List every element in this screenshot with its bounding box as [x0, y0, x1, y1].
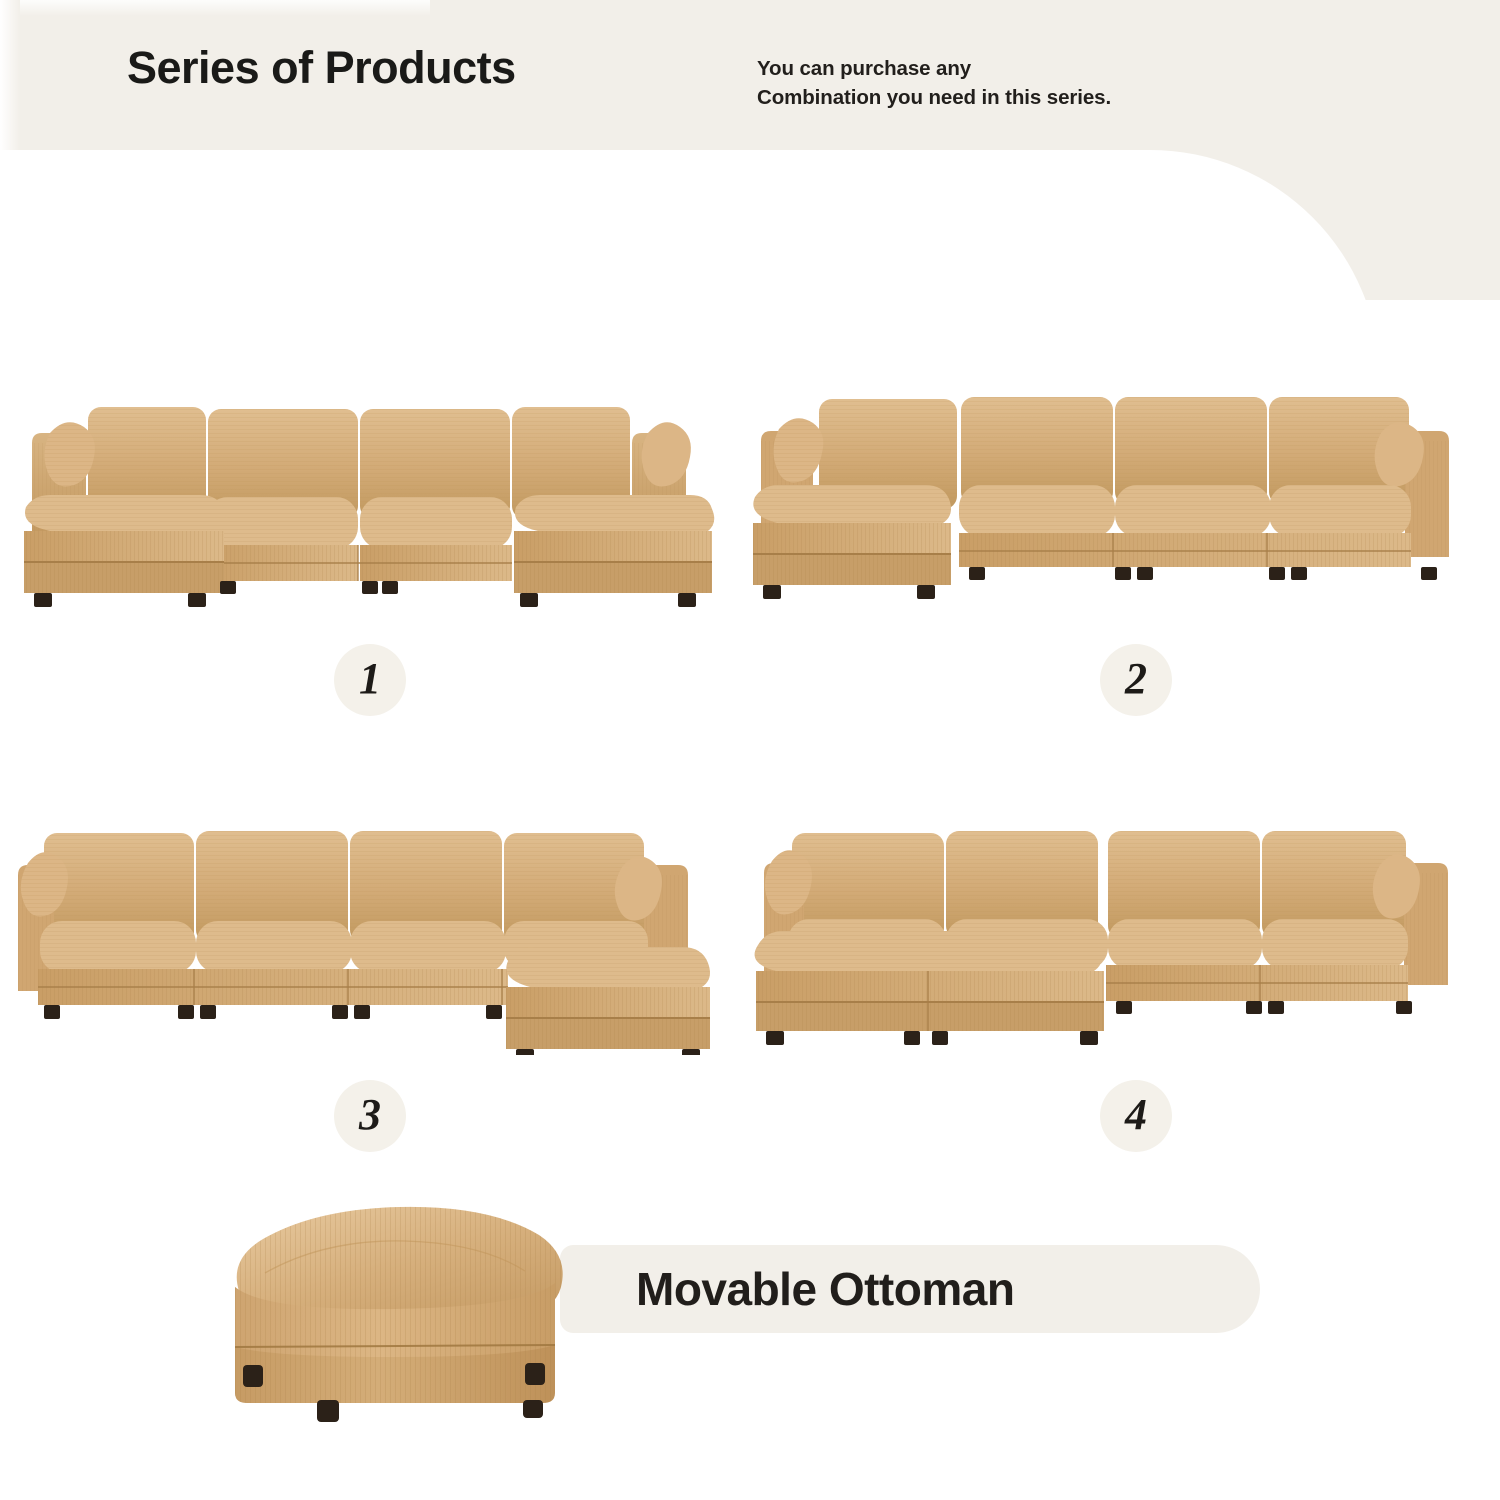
product-badge-4-label: 4 — [1125, 1093, 1147, 1137]
product-image-1[interactable] — [10, 385, 730, 620]
front-ottoman-pair — [755, 931, 1104, 1031]
base-frames — [206, 545, 512, 581]
header-curve-shape — [0, 150, 1380, 300]
base-frames — [38, 969, 508, 1005]
seat-cushions — [206, 497, 512, 549]
product-image-4[interactable] — [750, 815, 1460, 1055]
product-badge-3[interactable]: 3 — [334, 1080, 406, 1152]
page-title: Series of Products — [127, 44, 516, 91]
product-badge-1-label: 1 — [359, 657, 381, 701]
right-corner-chaise-ottoman — [506, 947, 710, 1049]
base-frames — [959, 533, 1411, 567]
left-chaise-ottoman — [24, 495, 226, 593]
product-image-3[interactable] — [10, 815, 730, 1055]
product-image-2[interactable] — [745, 385, 1455, 620]
product-badge-2[interactable]: 2 — [1100, 644, 1172, 716]
movable-ottoman-label-pill: Movable Ottoman — [560, 1245, 1260, 1333]
movable-ottoman-image[interactable] — [205, 1195, 605, 1425]
header-top-fade — [0, 0, 430, 16]
product-badge-1[interactable]: 1 — [334, 644, 406, 716]
infographic-page: Series of Products You can purchase any … — [0, 0, 1500, 1500]
left-corner-chaise-ottoman — [753, 485, 951, 585]
base-frames — [1106, 965, 1408, 1001]
seat-cushions — [959, 485, 1411, 537]
product-badge-4[interactable]: 4 — [1100, 1080, 1172, 1152]
product-badge-2-label: 2 — [1125, 657, 1147, 701]
movable-ottoman-label: Movable Ottoman — [636, 1262, 1014, 1316]
header-left-fade — [0, 0, 20, 150]
page-subtitle: You can purchase any Combination you nee… — [757, 54, 1111, 112]
product-badge-3-label: 3 — [359, 1093, 381, 1137]
right-chaise-ottoman — [514, 495, 714, 593]
